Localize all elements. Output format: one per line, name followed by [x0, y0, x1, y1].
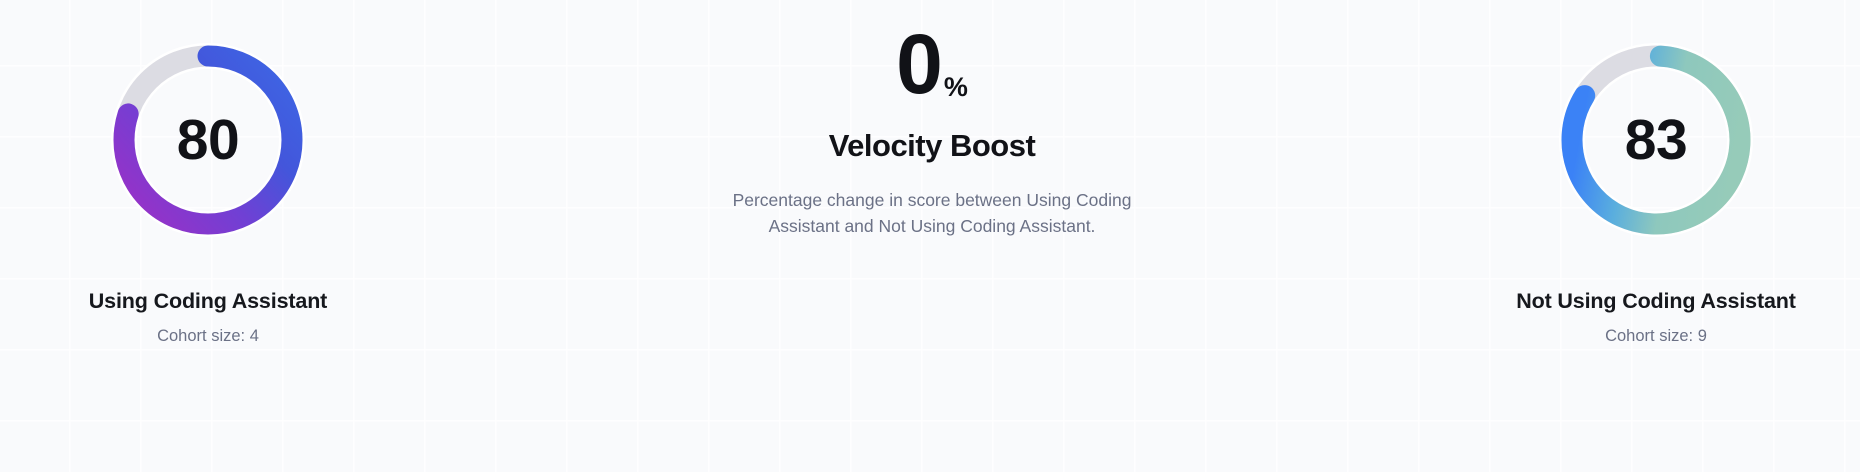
velocity-boost-comparison-panel: 80 Using Coding Assistant Cohort size: 4…	[0, 0, 1860, 472]
gauge-value-left: 80	[102, 34, 314, 246]
velocity-boost-unit: %	[944, 74, 968, 101]
velocity-boost-description: Percentage change in score between Using…	[697, 187, 1167, 240]
gauge-cohort-size-right: Cohort size: 9	[1605, 327, 1707, 347]
gauge-panel-not-using-coding-assistant: 83 Not Using Coding Assistant Cohort siz…	[1406, 0, 1860, 347]
gauge-label-left: Using Coding Assistant	[89, 289, 327, 315]
gauge-cohort-size-left: Cohort size: 4	[157, 327, 259, 347]
gauge-panel-using-coding-assistant: 80 Using Coding Assistant Cohort size: 4	[0, 0, 458, 347]
velocity-boost-value-row: 0 %	[896, 22, 968, 106]
gauge-not-using-coding-assistant: 83	[1550, 34, 1762, 246]
velocity-boost-value: 0	[896, 22, 941, 106]
velocity-boost-summary: 0 % Velocity Boost Percentage change in …	[652, 0, 1212, 240]
gauge-label-right: Not Using Coding Assistant	[1516, 289, 1796, 315]
velocity-boost-title: Velocity Boost	[829, 128, 1036, 164]
gauge-using-coding-assistant: 80	[102, 34, 314, 246]
gauge-value-right: 83	[1550, 34, 1762, 246]
